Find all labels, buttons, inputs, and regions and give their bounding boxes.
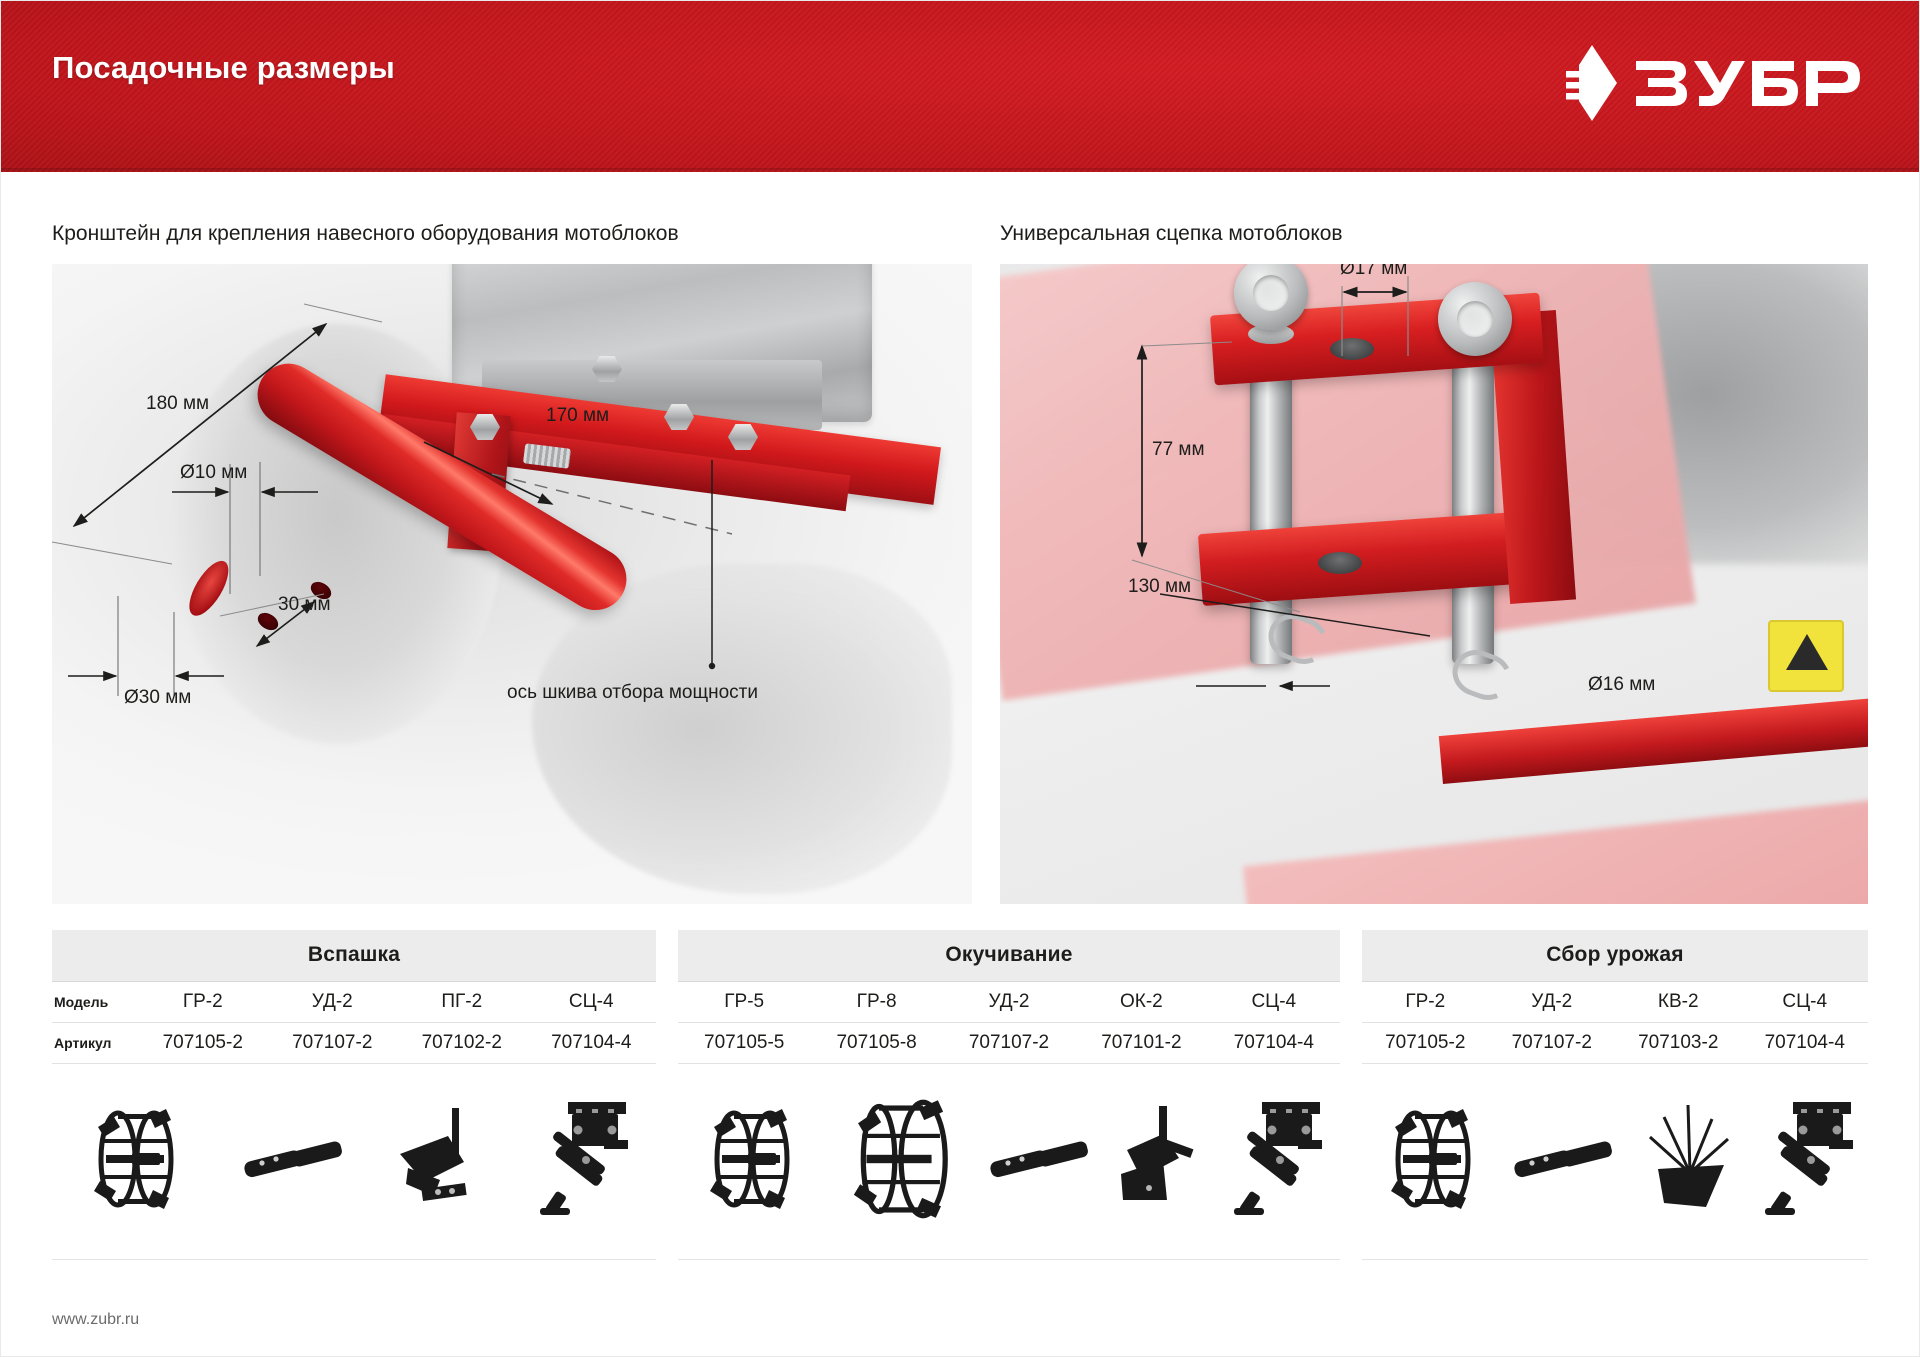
cell-model: ОК-2 bbox=[1075, 982, 1207, 1023]
row-header-model: Модель bbox=[52, 982, 138, 1023]
table-row-articles: Артикул 707105-2 707107-2 707102-2 70710… bbox=[52, 1023, 656, 1064]
cell-model: СЦ-4 bbox=[1742, 982, 1869, 1023]
dim-d30: Ø30 мм bbox=[124, 687, 191, 709]
cell-article: 707107-2 bbox=[268, 1023, 398, 1064]
product-extension-shaft bbox=[1512, 1140, 1616, 1183]
cell-model: СЦ-4 bbox=[1208, 982, 1340, 1023]
product-extension-shaft bbox=[242, 1140, 346, 1183]
dim-77: 77 мм bbox=[1152, 439, 1205, 461]
product-images-strip bbox=[1362, 1070, 1868, 1260]
note-pto-axis: ось шкива отбора мощности bbox=[507, 682, 758, 704]
zubr-diamond-icon bbox=[1566, 44, 1618, 122]
product-cage-wheels bbox=[692, 1099, 810, 1224]
cell-model: СЦ-4 bbox=[527, 982, 657, 1023]
product-hiller bbox=[1119, 1104, 1205, 1219]
photo-bracket-dimensions: 180 мм Ø10 мм 170 мм 30 мм Ø30 мм ось шк… bbox=[52, 264, 972, 904]
cell-article: 707103-2 bbox=[1615, 1023, 1742, 1064]
product-extension-shaft bbox=[988, 1140, 1092, 1183]
cell-model: КВ-2 bbox=[1615, 982, 1742, 1023]
cell-article: 707104-4 bbox=[1742, 1023, 1869, 1064]
cell-article: 707104-4 bbox=[1208, 1023, 1340, 1064]
page-title: Посадочные размеры bbox=[52, 50, 395, 86]
table-row-articles: 707105-5 707105-8 707107-2 707101-2 7071… bbox=[678, 1023, 1340, 1064]
cell-model: ГР-5 bbox=[678, 982, 810, 1023]
product-images-strip bbox=[678, 1070, 1340, 1260]
zubr-wordmark-icon bbox=[1632, 53, 1864, 113]
page-header: Посадочные размеры bbox=[0, 0, 1920, 172]
cell-model: ГР-8 bbox=[810, 982, 942, 1023]
product-spec-sheet: Посадочные размеры Кронштей bbox=[0, 0, 1920, 1357]
eye-bolt-right bbox=[1438, 282, 1512, 356]
cell-article: 707102-2 bbox=[397, 1023, 527, 1064]
cell-model: ПГ-2 bbox=[397, 982, 527, 1023]
product-cage-wheels bbox=[1373, 1099, 1491, 1224]
brand-logo bbox=[1566, 44, 1864, 122]
product-hitch-bracket bbox=[1763, 1100, 1857, 1223]
dim-d16: Ø16 мм bbox=[1588, 674, 1655, 696]
table-title: Окучивание bbox=[678, 930, 1340, 981]
dim-180: 180 мм bbox=[146, 393, 209, 415]
product-hitch-bracket bbox=[538, 1100, 632, 1223]
cell-article: 707107-2 bbox=[943, 1023, 1075, 1064]
cell-article: 707105-2 bbox=[1362, 1023, 1489, 1064]
compatibility-tables: Вспашка Модель ГР-2 УД-2 ПГ-2 СЦ-4 Артик… bbox=[52, 930, 1868, 1260]
cell-article: 707105-8 bbox=[810, 1023, 942, 1064]
spec-table: Модель ГР-2 УД-2 ПГ-2 СЦ-4 Артикул 70710… bbox=[52, 981, 656, 1064]
product-cage-wheels bbox=[76, 1099, 194, 1224]
product-hitch-bracket bbox=[1232, 1100, 1326, 1223]
warning-label-icon bbox=[1768, 620, 1844, 692]
cell-model: УД-2 bbox=[268, 982, 398, 1023]
dim-d17: Ø17 мм bbox=[1340, 264, 1407, 280]
footer-url[interactable]: www.zubr.ru bbox=[52, 1311, 139, 1329]
product-potato-digger bbox=[1638, 1103, 1742, 1220]
table-title: Сбор урожая bbox=[1362, 930, 1868, 981]
cell-article: 707105-2 bbox=[138, 1023, 268, 1064]
cell-model: УД-2 bbox=[1489, 982, 1616, 1023]
photo-hitch-dimensions: Ø17 мм 77 мм 130 мм Ø16 мм bbox=[1000, 264, 1868, 904]
product-plow bbox=[394, 1106, 490, 1217]
spec-table: ГР-5 ГР-8 УД-2 ОК-2 СЦ-4 707105-5 707105… bbox=[678, 981, 1340, 1064]
cell-article: 707101-2 bbox=[1075, 1023, 1207, 1064]
table-row-models: ГР-2 УД-2 КВ-2 СЦ-4 bbox=[1362, 982, 1868, 1023]
dim-30: 30 мм bbox=[278, 594, 331, 616]
table-block-okuchivanie: Окучивание ГР-5 ГР-8 УД-2 ОК-2 СЦ-4 7071… bbox=[678, 930, 1340, 1260]
cell-article: 707104-4 bbox=[527, 1023, 657, 1064]
table-title: Вспашка bbox=[52, 930, 656, 981]
product-cage-wheels-large bbox=[837, 1096, 961, 1227]
hitch-pin-right bbox=[1452, 334, 1494, 664]
hitch-hole-top bbox=[1330, 338, 1374, 360]
hitch-hole-bottom bbox=[1318, 552, 1362, 574]
cell-model: ГР-2 bbox=[1362, 982, 1489, 1023]
table-block-vspashka: Вспашка Модель ГР-2 УД-2 ПГ-2 СЦ-4 Артик… bbox=[52, 930, 656, 1260]
table-row-models: ГР-5 ГР-8 УД-2 ОК-2 СЦ-4 bbox=[678, 982, 1340, 1023]
panel-caption-bracket: Кронштейн для крепления навесного оборуд… bbox=[52, 222, 679, 246]
panel-caption-hitch: Универсальная сцепка мотоблоков bbox=[1000, 222, 1343, 246]
dim-170: 170 мм bbox=[546, 405, 609, 427]
spec-table: ГР-2 УД-2 КВ-2 СЦ-4 707105-2 707107-2 70… bbox=[1362, 981, 1868, 1064]
dim-d10: Ø10 мм bbox=[180, 462, 247, 484]
dim-130: 130 мм bbox=[1128, 576, 1191, 598]
cell-article: 707107-2 bbox=[1489, 1023, 1616, 1064]
table-row-models: Модель ГР-2 УД-2 ПГ-2 СЦ-4 bbox=[52, 982, 656, 1023]
table-block-sbor-urozhaya: Сбор урожая ГР-2 УД-2 КВ-2 СЦ-4 707105-2… bbox=[1362, 930, 1868, 1260]
table-row-articles: 707105-2 707107-2 707103-2 707104-4 bbox=[1362, 1023, 1868, 1064]
row-header-article: Артикул bbox=[52, 1023, 138, 1064]
cell-model: ГР-2 bbox=[138, 982, 268, 1023]
cell-article: 707105-5 bbox=[678, 1023, 810, 1064]
cell-model: УД-2 bbox=[943, 982, 1075, 1023]
product-images-strip bbox=[52, 1070, 656, 1260]
